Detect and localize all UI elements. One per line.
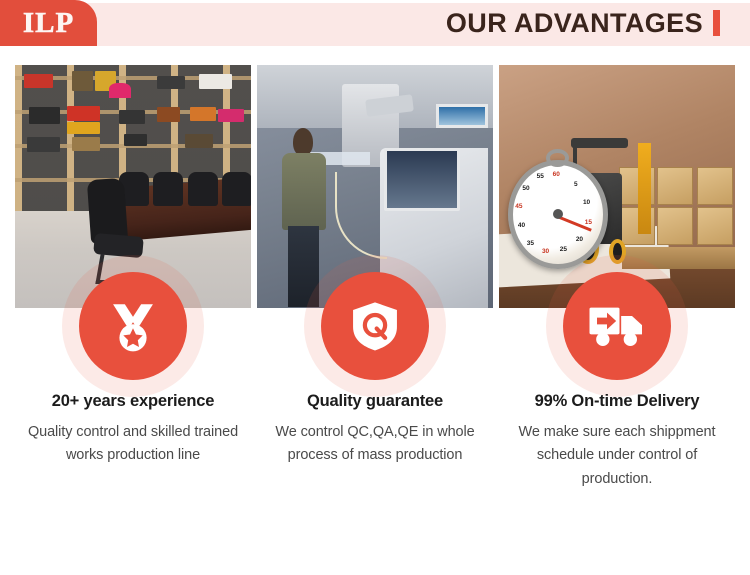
stopwatch-tick: 55 xyxy=(537,173,544,180)
stopwatch-dial: 60510152025303540455055 xyxy=(508,160,607,269)
stopwatch-tick: 5 xyxy=(574,181,578,188)
advantage-title-3: 99% On-time Delivery xyxy=(505,392,729,411)
advantage-text-row: 20+ years experience Quality control and… xyxy=(15,392,735,491)
brand-logo-text: ILP xyxy=(23,7,74,40)
advantage-text-2: Quality guarantee We control QC,QA,QE in… xyxy=(257,392,493,491)
advantage-image-1 xyxy=(15,65,251,308)
header-title-group: OUR ADVANTAGES xyxy=(446,0,720,46)
advantage-title-1: 20+ years experience xyxy=(21,392,245,411)
stopwatch-tick: 50 xyxy=(522,185,529,192)
advantage-image-3: 60510152025303540455055 xyxy=(499,65,735,308)
stopwatch-tick: 45 xyxy=(515,203,522,210)
advantage-description-2: We control QC,QA,QE in whole process of … xyxy=(263,421,487,468)
advantage-image-row: 60510152025303540455055 xyxy=(15,65,735,310)
delivery-scene: 60510152025303540455055 xyxy=(499,65,735,308)
page-title: OUR ADVANTAGES xyxy=(446,8,703,39)
stopwatch-tick: 30 xyxy=(542,248,549,255)
advantage-description-1: Quality control and skilled trained work… xyxy=(21,421,245,468)
stopwatch-tick: 60 xyxy=(553,171,560,178)
page-header: ILP OUR ADVANTAGES xyxy=(0,0,750,46)
advantage-description-3: We make sure each shippment schedule und… xyxy=(505,421,729,491)
stopwatch-tick: 10 xyxy=(583,199,590,206)
advantage-text-1: 20+ years experience Quality control and… xyxy=(15,392,251,491)
advantage-title-2: Quality guarantee xyxy=(263,392,487,411)
brand-logo[interactable]: ILP xyxy=(0,0,97,46)
stopwatch-tick: 15 xyxy=(585,219,592,226)
factory-qc-scene xyxy=(257,65,493,308)
advantage-text-3: 99% On-time Delivery We make sure each s… xyxy=(499,392,735,491)
title-accent-bar xyxy=(713,10,720,36)
advantages-page: ILP OUR ADVANTAGES xyxy=(0,0,750,575)
stopwatch-tick: 25 xyxy=(560,246,567,253)
stopwatch-tick: 40 xyxy=(518,222,525,229)
stopwatch-tick: 20 xyxy=(576,236,583,243)
advantage-image-2 xyxy=(257,65,493,308)
showroom-scene xyxy=(15,65,251,308)
stopwatch-tick: 35 xyxy=(527,240,534,247)
